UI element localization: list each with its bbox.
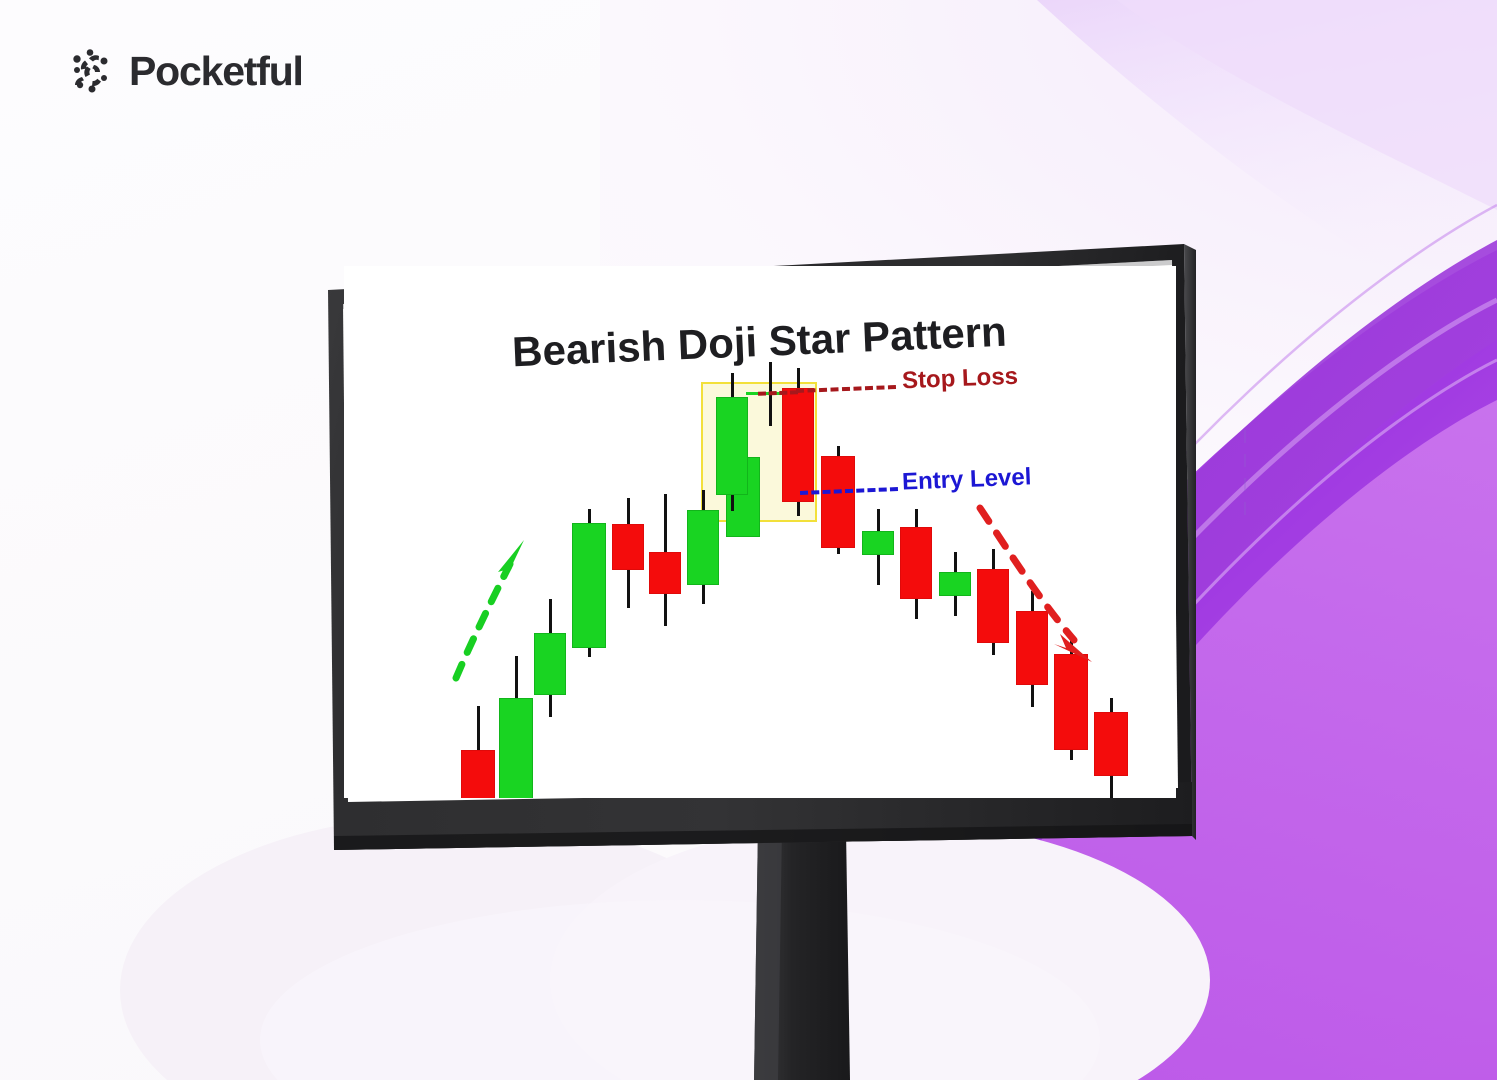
- desktop-monitor: Bearish Doji Star Pattern: [316, 236, 1196, 866]
- candle-14: [900, 509, 932, 623]
- entry-level-label: Entry Level: [901, 463, 1031, 496]
- candle-19: [1094, 698, 1128, 798]
- candle-7: [687, 490, 719, 608]
- candle-12: [821, 446, 855, 558]
- candle-body: [461, 750, 495, 798]
- candle-body: [821, 456, 855, 548]
- brand-name: Pocketful: [129, 48, 303, 95]
- candle-body: [687, 510, 719, 585]
- candle-body: [716, 397, 748, 495]
- candle-body: [572, 523, 606, 648]
- candle-body: [900, 527, 932, 599]
- candle-5: [612, 498, 644, 610]
- candle-9-bullish: [716, 373, 748, 515]
- chart-canvas: Bearish Doji Star Pattern: [344, 266, 1176, 798]
- candle-wick: [477, 706, 480, 752]
- candle-13: [862, 509, 894, 587]
- monitor-screen: Bearish Doji Star Pattern: [344, 266, 1176, 798]
- stop-loss-label: Stop Loss: [901, 363, 1018, 396]
- pocketful-swirl-icon: [68, 47, 114, 95]
- page-root: Pocketful: [0, 0, 1497, 1080]
- candle-body: [862, 531, 894, 555]
- candle-body: [612, 524, 644, 570]
- candle-4: [572, 509, 606, 662]
- uptrend-arrow: [448, 528, 548, 688]
- candle-body: [649, 552, 681, 594]
- candle-1: [461, 706, 495, 798]
- downtrend-arrow: [962, 494, 1102, 684]
- brand-logo[interactable]: Pocketful: [68, 47, 303, 95]
- candle-body: [499, 698, 533, 798]
- candle-body: [782, 388, 814, 502]
- candle-body: [1094, 712, 1128, 776]
- candle-6: [649, 494, 681, 628]
